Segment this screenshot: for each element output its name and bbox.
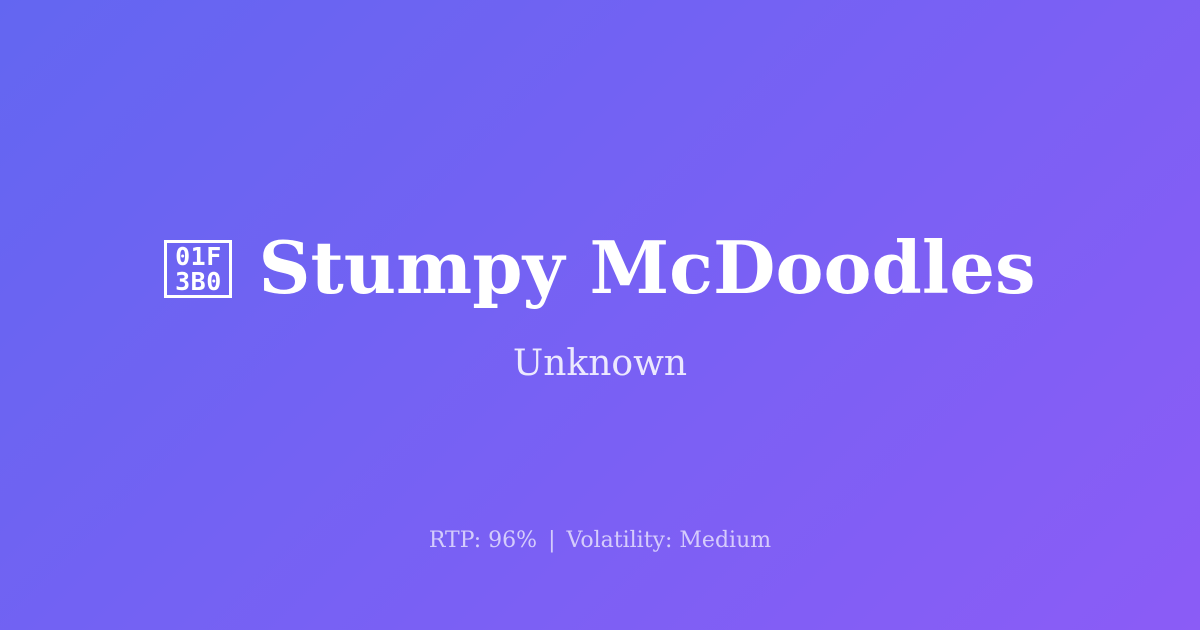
volatility-label: Volatility:: [567, 528, 673, 553]
game-title: Stumpy McDoodles: [258, 232, 1035, 304]
rtp-value: 96%: [488, 528, 537, 553]
slot-machine-icon-codepoint-top: 01F: [175, 244, 222, 269]
hero-block: 01F 3B0 Stumpy McDoodles Unknown: [0, 232, 1200, 382]
slot-machine-icon-codepoint-bottom: 3B0: [175, 269, 222, 294]
title-row: 01F 3B0 Stumpy McDoodles: [164, 232, 1035, 304]
rtp-label: RTP:: [429, 528, 481, 553]
game-provider: Unknown: [513, 346, 687, 382]
volatility-value: Medium: [679, 528, 771, 553]
game-stats-line: RTP: 96% | Volatility: Medium: [0, 530, 1200, 552]
stats-separator: |: [544, 528, 559, 553]
slot-machine-icon: 01F 3B0: [164, 240, 232, 298]
game-preview-card: 01F 3B0 Stumpy McDoodles Unknown RTP: 96…: [0, 0, 1200, 630]
